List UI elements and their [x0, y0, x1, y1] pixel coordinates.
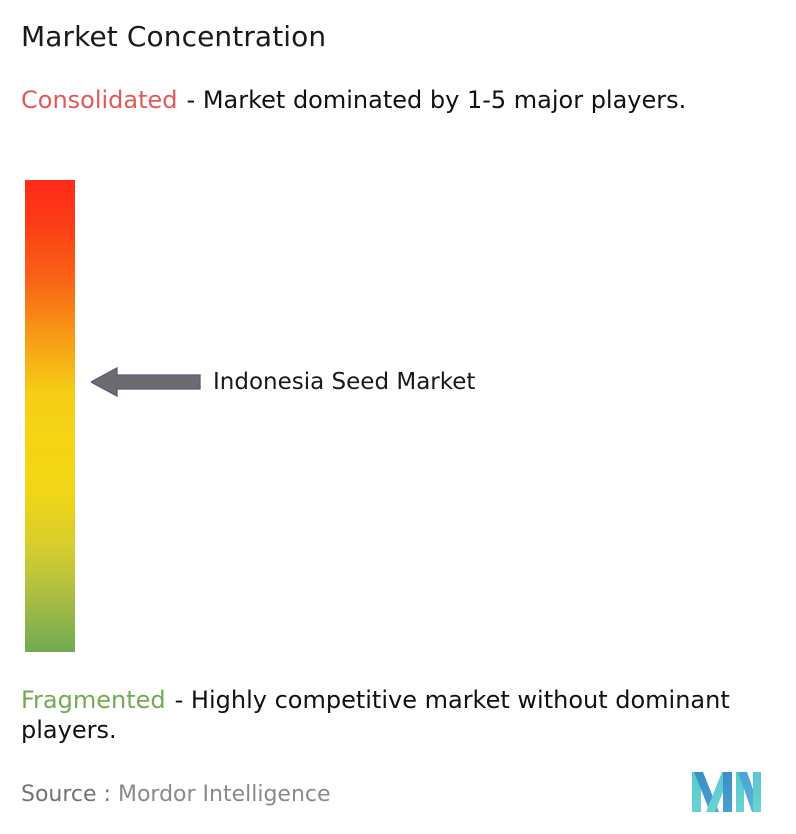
consolidated-caption: Consolidated- Market dominated by 1-5 ma…: [21, 85, 781, 115]
consolidated-description: - Market dominated by 1-5 major players.: [187, 86, 687, 114]
mordor-intelligence-logo-icon: [692, 770, 762, 814]
left-arrow-icon: [91, 366, 201, 398]
page-title: Market Concentration: [21, 20, 326, 54]
consolidated-keyword: Consolidated: [21, 86, 178, 114]
source-label: Source :: [21, 782, 111, 807]
source-line: Source : Mordor Intelligence: [21, 781, 331, 809]
market-position-label: Indonesia Seed Market: [213, 369, 475, 395]
concentration-gradient-bar: [25, 180, 75, 652]
fragmented-keyword: Fragmented: [21, 686, 166, 714]
fragmented-caption: Fragmented- Highly competitive market wi…: [21, 685, 781, 745]
market-concentration-figure: Market Concentration Consolidated- Marke…: [0, 0, 796, 834]
market-position-marker: Indonesia Seed Market: [91, 366, 475, 398]
source-value: Mordor Intelligence: [118, 782, 331, 807]
